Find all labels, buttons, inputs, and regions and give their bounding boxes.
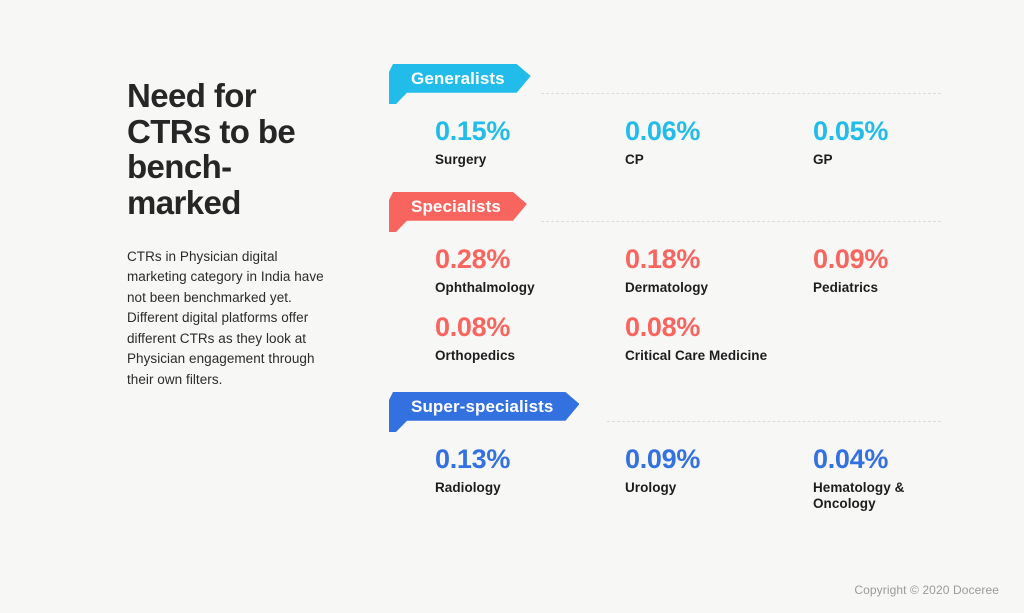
stat-row: 0.28% Ophthalmology 0.18% Dermatology 0.… <box>389 246 945 306</box>
stat-value: 0.28% <box>435 246 535 273</box>
group-divider-generalists <box>541 93 941 94</box>
stat-value: 0.08% <box>435 314 515 341</box>
group-badge-label: Generalists <box>411 69 505 89</box>
stat-value: 0.06% <box>625 118 700 145</box>
stat-item: 0.05% GP <box>813 118 888 168</box>
left-panel: Need for CTRs to be bench-marked CTRs in… <box>127 78 342 390</box>
stat-value: 0.15% <box>435 118 510 145</box>
stat-value: 0.13% <box>435 446 510 473</box>
stat-item: 0.15% Surgery <box>435 118 510 168</box>
stat-item: 0.28% Ophthalmology <box>435 246 535 296</box>
stat-item: 0.09% Pediatrics <box>813 246 888 296</box>
group-generalists: Generalists 0.15% Surgery 0.06% CP 0.05%… <box>389 64 945 178</box>
stat-value: 0.04% <box>813 446 904 473</box>
stat-label: Urology <box>625 480 700 496</box>
stat-item: 0.06% CP <box>625 118 700 168</box>
group-badge-generalists: Generalists <box>389 64 531 104</box>
stat-item: 0.18% Dermatology <box>625 246 708 296</box>
infographic-canvas: Need for CTRs to be bench-marked CTRs in… <box>0 0 1024 613</box>
group-header-specialists: Specialists <box>389 192 945 232</box>
group-badge-super-specialists: Super-specialists <box>389 392 579 432</box>
group-badge-label: Super-specialists <box>411 397 553 417</box>
stat-value: 0.09% <box>625 446 700 473</box>
group-badge-specialists: Specialists <box>389 192 527 232</box>
group-header-super-specialists: Super-specialists <box>389 392 945 432</box>
stat-value: 0.18% <box>625 246 708 273</box>
stat-item: 0.13% Radiology <box>435 446 510 496</box>
stat-item: 0.04% Hematology & Oncology <box>813 446 904 512</box>
group-super-specialists: Super-specialists 0.13% Radiology 0.09% … <box>389 392 945 506</box>
stat-label: Radiology <box>435 480 510 496</box>
stat-item: 0.08% Orthopedics <box>435 314 515 364</box>
intro-paragraph: CTRs in Physician digital marketing cate… <box>127 247 335 391</box>
groups-container: Generalists 0.15% Surgery 0.06% CP 0.05%… <box>389 0 949 613</box>
stat-label: Orthopedics <box>435 348 515 364</box>
group-specialists: Specialists 0.28% Ophthalmology 0.18% De… <box>389 192 945 372</box>
copyright-notice: Copyright © 2020 Doceree <box>854 583 999 597</box>
stat-value: 0.05% <box>813 118 888 145</box>
stat-row: 0.08% Orthopedics 0.08% Critical Care Me… <box>389 314 945 372</box>
stat-value: 0.08% <box>625 314 767 341</box>
stat-label: Dermatology <box>625 280 708 296</box>
page-title: Need for CTRs to be bench-marked <box>127 78 317 221</box>
group-header-generalists: Generalists <box>389 64 945 104</box>
stat-item: 0.08% Critical Care Medicine <box>625 314 767 364</box>
stat-label: Hematology & Oncology <box>813 480 904 512</box>
stat-row: 0.15% Surgery 0.06% CP 0.05% GP <box>389 118 945 178</box>
stat-label: CP <box>625 152 700 168</box>
group-divider-specialists <box>541 221 941 222</box>
stat-label: Surgery <box>435 152 510 168</box>
group-badge-label: Specialists <box>411 197 501 217</box>
stat-value: 0.09% <box>813 246 888 273</box>
stat-label: GP <box>813 152 888 168</box>
stat-label: Pediatrics <box>813 280 888 296</box>
stat-label: Critical Care Medicine <box>625 348 767 364</box>
stat-row: 0.13% Radiology 0.09% Urology 0.04% Hema… <box>389 446 945 506</box>
group-divider-super-specialists <box>607 421 941 422</box>
stat-item: 0.09% Urology <box>625 446 700 496</box>
stat-label: Ophthalmology <box>435 280 535 296</box>
